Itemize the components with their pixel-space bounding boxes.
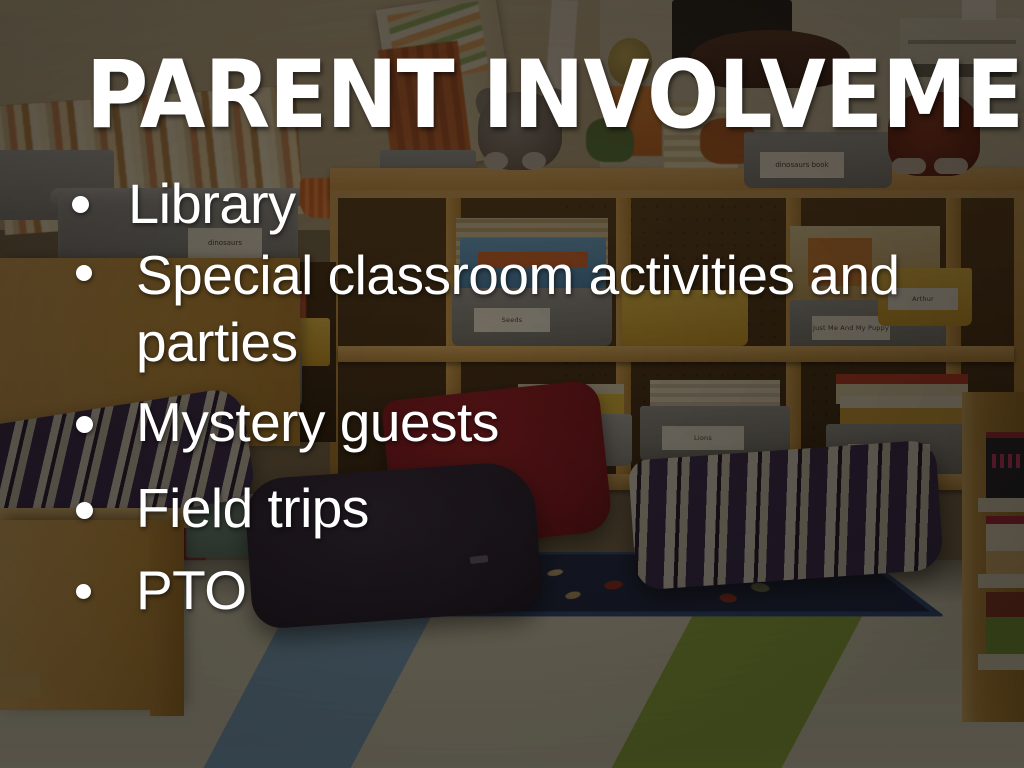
bullet-dot-icon xyxy=(76,584,91,599)
slide-text-layer: PARENT INVOLVEMENT Library Special class… xyxy=(0,0,1024,768)
bullet-label: Field trips xyxy=(136,477,369,539)
bullet-dot-icon xyxy=(76,416,93,433)
presentation-slide: dinosaurs Seeds dinosaurs book xyxy=(0,0,1024,768)
bullet-item-pto: PTO xyxy=(58,548,938,632)
slide-title: PARENT INVOLVEMENT xyxy=(86,48,864,144)
bullet-item-mystery-guests: Mystery guests xyxy=(58,376,938,468)
bullet-label: PTO xyxy=(136,559,247,621)
bullet-label: Mystery guests xyxy=(136,391,499,453)
bullet-label: Special classroom activities and parties xyxy=(136,244,900,373)
bullet-item-library: Library xyxy=(58,166,938,242)
bullet-dot-icon xyxy=(76,502,93,519)
bullet-dot-icon xyxy=(76,265,92,281)
bullet-dot-icon xyxy=(72,196,89,213)
bullet-label: Library xyxy=(128,172,296,235)
bullet-list: Library Special classroom activities and… xyxy=(58,166,938,632)
bullet-item-special-classroom-activities: Special classroom activities and parties xyxy=(58,242,938,376)
bullet-item-field-trips: Field trips xyxy=(58,468,938,548)
